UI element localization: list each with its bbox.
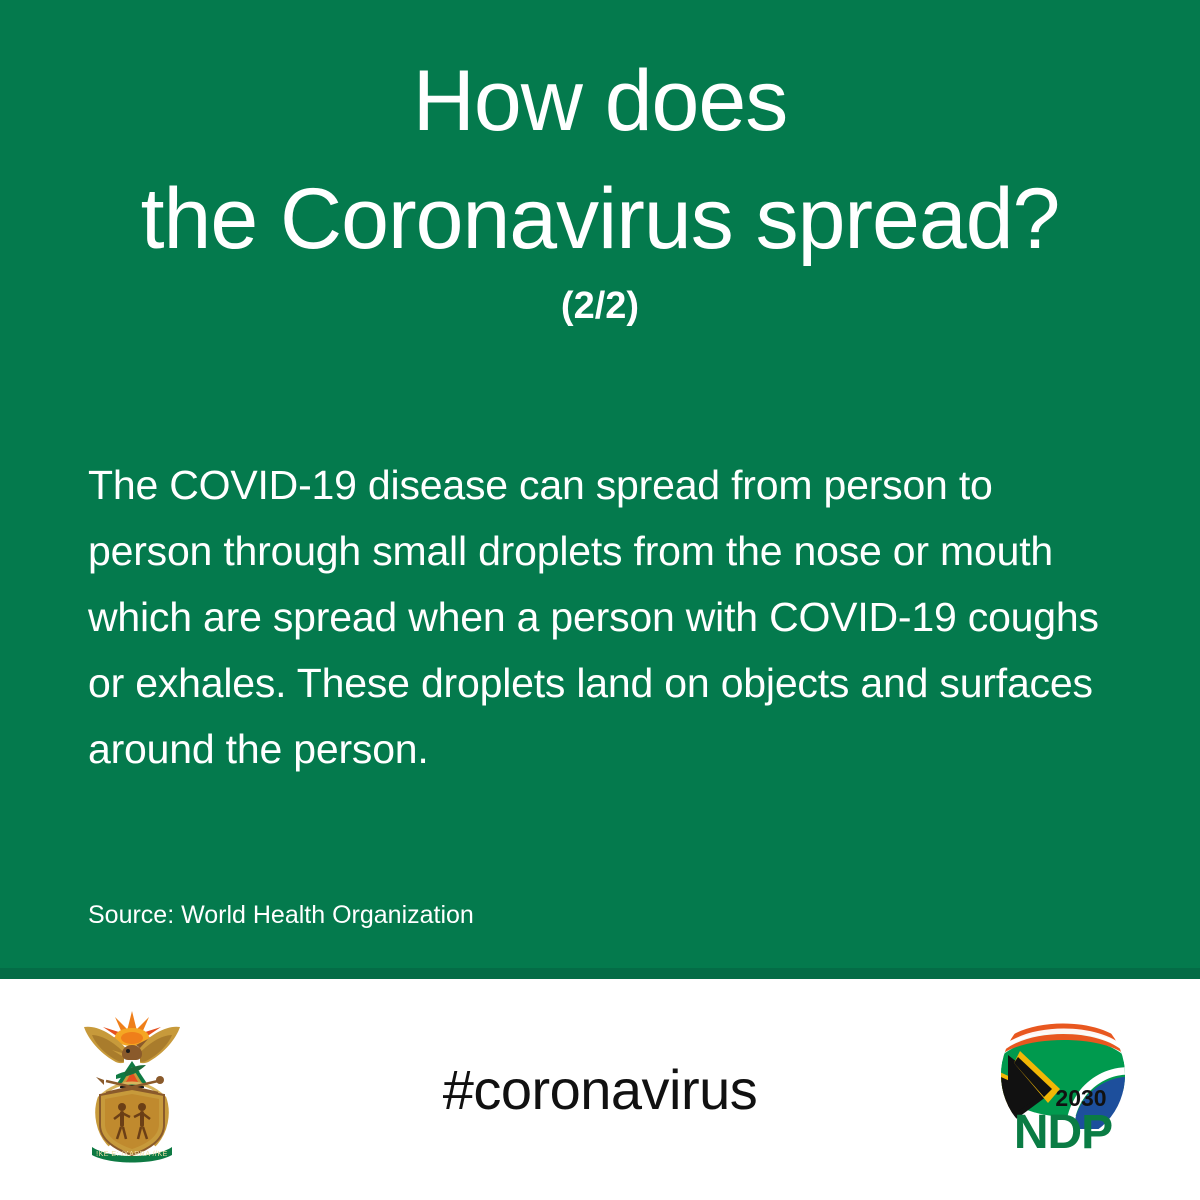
title-line-1: How does [0,42,1200,160]
page-title: How does the Coronavirus spread? (2/2) [0,42,1200,328]
source-attribution: Source: World Health Organization [88,900,474,930]
body-paragraph: The COVID-19 disease can spread from per… [88,452,1112,782]
ndp-2030-logo: 2030 NDP [990,1005,1136,1155]
title-counter: (2/2) [0,284,1200,328]
ndp-acronym-text: NDP [1014,1106,1112,1155]
footer-bar: !KE E: /XARRA //KE #coronavirus [0,979,1200,1200]
info-card: How does the Coronavirus spread? (2/2) T… [0,0,1200,1200]
title-line-2: the Coronavirus spread? [0,160,1200,278]
green-panel-bottom-edge [0,968,1200,979]
